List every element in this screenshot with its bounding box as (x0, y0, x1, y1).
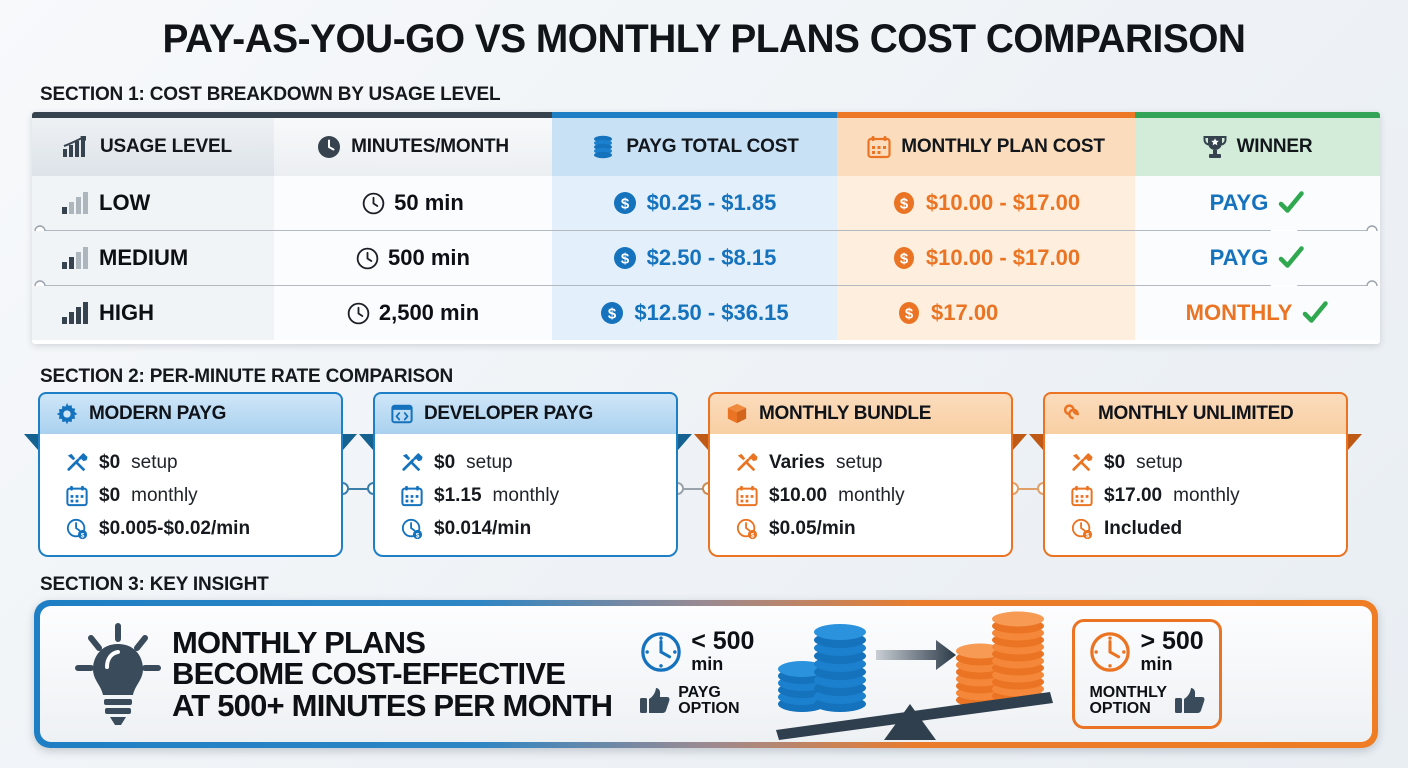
plan-card-monthly-bundle[interactable]: MONTHLY BUNDLE Varies setup $10 (708, 392, 1013, 557)
column-header-label: WINNER (1237, 136, 1313, 158)
cell-usage-level: LOW (32, 176, 274, 230)
clock-coin-icon: $ (736, 518, 758, 540)
cost-breakdown-table: USAGE LEVEL MINUTES/MONTH PAYG TOTAL COS… (32, 112, 1380, 344)
cell-usage-level: HIGH (32, 286, 274, 340)
ribbon-fold-right (678, 434, 692, 450)
svg-text:$: $ (81, 532, 85, 539)
card-body: $0 setup $1.15 monthly $ $0 (373, 434, 678, 557)
section-2-label: SECTION 2: PER-MINUTE RATE COMPARISON (40, 366, 453, 388)
headline-line-3: AT 500+ MINUTES PER MONTH (172, 690, 612, 722)
coin-stack-orange-icon (956, 612, 1044, 708)
cell-usage-level: MEDIUM (32, 231, 274, 285)
card-title: MONTHLY BUNDLE (759, 403, 931, 425)
column-header-label: PAYG TOTAL COST (626, 136, 798, 158)
coin-stack-icon (590, 134, 616, 160)
column-header-payg-total-cost: PAYG TOTAL COST (552, 118, 837, 176)
clock-coin-icon: $ (66, 518, 88, 540)
tools-icon (1071, 452, 1093, 474)
card-row: $ Included (1071, 512, 1346, 545)
trophy-icon (1203, 134, 1227, 160)
usage-level-label: HIGH (99, 300, 154, 326)
key-insight-banner: MONTHLY PLANS BECOME COST-EFFECTIVE AT 5… (34, 600, 1378, 748)
tools-icon (736, 452, 758, 474)
right-threshold-unit: min (1140, 654, 1203, 675)
card-row: $0 setup (401, 446, 676, 479)
dollar-coin-icon: $ (892, 246, 916, 270)
left-threshold-badge: < 500 min PAYG OPTION (640, 630, 754, 718)
column-header-label: MONTHLY PLAN COST (901, 136, 1105, 158)
clock-icon (347, 302, 370, 325)
cell-winner: MONTHLY (1135, 286, 1380, 340)
card-slot: DEVELOPER PAYG $0 setup $1.15 (373, 392, 708, 554)
checkmark-icon (1277, 189, 1305, 217)
thumbs-up-icon (640, 687, 670, 715)
cell-winner: PAYG (1135, 231, 1380, 285)
payg-cost-value: $0.25 - $1.85 (647, 190, 777, 216)
svg-text:$: $ (416, 532, 420, 539)
infographic-page: PAY-AS-YOU-GO VS MONTHLY PLANS COST COMP… (0, 0, 1408, 768)
clock-icon (640, 631, 682, 673)
card-row-value: $1.15 (434, 485, 482, 507)
svg-text:$: $ (900, 251, 909, 268)
right-option-line-1: MONTHLY (1089, 685, 1167, 702)
column-header-label: USAGE LEVEL (100, 136, 232, 158)
card-title: DEVELOPER PAYG (424, 403, 593, 425)
card-row-value: $10.00 (769, 485, 827, 507)
monthly-cost-value: $17.00 (931, 300, 998, 326)
card-row-label: setup (466, 452, 512, 474)
left-option-label: PAYG OPTION (678, 685, 739, 719)
left-option-line-1: PAYG (678, 685, 739, 702)
rate-comparison-cards: MODERN PAYG $0 setup $0 (38, 392, 1378, 554)
cell-payg-cost: $ $12.50 - $36.15 (552, 286, 837, 340)
card-row: $0 setup (66, 446, 341, 479)
card-row-value: $0.005-$0.02/min (99, 518, 250, 540)
column-header-monthly-plan-cost: MONTHLY PLAN COST (837, 118, 1135, 176)
clock-icon (317, 135, 341, 159)
right-option-line-2: OPTION (1089, 701, 1167, 718)
card-row-value: $17.00 (1104, 485, 1162, 507)
checkmark-icon (1277, 244, 1305, 272)
card-connector-line (678, 488, 708, 490)
svg-text:$: $ (905, 306, 914, 323)
card-header: MONTHLY UNLIMITED (1043, 392, 1348, 434)
card-row-label: setup (836, 452, 882, 474)
insight-headline: MONTHLY PLANS BECOME COST-EFFECTIVE AT 5… (172, 627, 612, 722)
left-threshold-row: < 500 min (640, 630, 754, 675)
calendar-icon (736, 485, 758, 507)
card-body: $0 setup $17.00 monthly $ I (1043, 434, 1348, 557)
signal-bars-icon (62, 247, 88, 269)
balance-scale-illustration (770, 608, 1060, 740)
usage-level-label: MEDIUM (99, 245, 188, 271)
card-row: $1.15 monthly (401, 479, 676, 512)
headline-line-2: BECOME COST-EFFECTIVE (172, 658, 612, 690)
gear-icon (56, 403, 78, 425)
card-row-value: $0 (99, 452, 120, 474)
key-insight-inner: MONTHLY PLANS BECOME COST-EFFECTIVE AT 5… (40, 606, 1372, 742)
minutes-value: 500 min (388, 245, 470, 271)
minutes-value: 2,500 min (379, 300, 479, 326)
ribbon-fold-left (694, 434, 708, 450)
right-option-label: MONTHLY OPTION (1089, 685, 1167, 719)
card-title: MONTHLY UNLIMITED (1098, 403, 1293, 425)
card-slot: MONTHLY UNLIMITED $0 setup $17. (1043, 392, 1378, 554)
card-row: $ $0.014/min (401, 512, 676, 545)
svg-text:$: $ (620, 251, 629, 268)
card-row-label: monthly (838, 485, 905, 507)
card-row: $ $0.05/min (736, 512, 1011, 545)
column-header-minutes-month: MINUTES/MONTH (274, 118, 552, 176)
right-option-row: MONTHLY OPTION (1089, 685, 1205, 719)
card-title: MODERN PAYG (89, 403, 226, 425)
signal-bars-icon (62, 192, 88, 214)
calendar-icon (401, 485, 423, 507)
card-header: MODERN PAYG (38, 392, 343, 434)
card-row-value: $0 (99, 485, 120, 507)
right-threshold-row: > 500 min (1089, 630, 1205, 675)
ribbon-fold-left (24, 434, 38, 450)
page-title: PAY-AS-YOU-GO VS MONTHLY PLANS COST COMP… (21, 0, 1387, 62)
cell-minutes: 500 min (274, 231, 552, 285)
svg-text:$: $ (608, 306, 617, 323)
thumbs-up-icon (1175, 687, 1205, 715)
tools-icon (66, 452, 88, 474)
card-slot: MONTHLY BUNDLE Varies setup $10 (708, 392, 1043, 554)
cell-monthly-cost: $ $10.00 - $17.00 (837, 231, 1135, 285)
left-threshold-value: < 500 (691, 630, 754, 654)
lightbulb-icon (74, 622, 162, 726)
minutes-value: 50 min (394, 190, 464, 216)
card-row-value: $0 (434, 452, 455, 474)
bar-chart-growth-icon (62, 135, 90, 159)
coin-stack-blue-icon (778, 624, 866, 712)
svg-text:$: $ (1086, 532, 1090, 539)
dollar-coin-icon: $ (892, 191, 916, 215)
payg-cost-value: $2.50 - $8.15 (647, 245, 777, 271)
clock-icon (356, 247, 379, 270)
ribbon-fold-right (1013, 434, 1027, 450)
card-row-label: monthly (493, 485, 560, 507)
section-1-label: SECTION 1: COST BREAKDOWN BY USAGE LEVEL (40, 84, 500, 106)
headline-line-1: MONTHLY PLANS (172, 627, 612, 659)
clock-icon (362, 192, 385, 215)
plan-card-modern-payg[interactable]: MODERN PAYG $0 setup $0 (38, 392, 343, 557)
calendar-icon (867, 135, 891, 159)
cell-winner: PAYG (1135, 176, 1380, 230)
card-header: DEVELOPER PAYG (373, 392, 678, 434)
left-threshold-unit: min (691, 654, 754, 675)
ribbon-fold-left (359, 434, 373, 450)
winner-label: MONTHLY (1186, 300, 1293, 326)
payg-cost-value: $12.50 - $36.15 (634, 300, 788, 326)
right-threshold-content: > 500 min MONTHLY OPTION (1089, 630, 1205, 718)
cell-payg-cost: $ $0.25 - $1.85 (552, 176, 837, 230)
clock-coin-icon: $ (401, 518, 423, 540)
tools-icon (401, 452, 423, 474)
dollar-coin-icon: $ (613, 191, 637, 215)
table-header-row: USAGE LEVEL MINUTES/MONTH PAYG TOTAL COS… (32, 118, 1380, 176)
card-row-label: monthly (1173, 485, 1240, 507)
left-option-line-2: OPTION (678, 701, 739, 718)
table-row: LOW 50 min $ $0.25 - $1.85 $ $10.00 - $1… (32, 176, 1380, 230)
table-row: HIGH 2,500 min $ $12.50 - $36.15 $ $17.0… (32, 286, 1380, 340)
section-3-label: SECTION 3: KEY INSIGHT (40, 574, 269, 596)
card-row: $0 monthly (66, 479, 341, 512)
column-header-label: MINUTES/MONTH (351, 136, 509, 158)
clock-coin-icon: $ (1071, 518, 1093, 540)
plan-card-developer-payg[interactable]: DEVELOPER PAYG $0 setup $1.15 (373, 392, 678, 557)
card-row-value: Varies (769, 452, 825, 474)
card-row-value: $0.05/min (769, 518, 856, 540)
dollar-coin-icon: $ (897, 301, 921, 325)
checkmark-icon (1301, 299, 1329, 327)
svg-text:$: $ (620, 196, 629, 213)
cell-minutes: 2,500 min (274, 286, 552, 340)
ribbon-fold-right (343, 434, 357, 450)
right-threshold-value: > 500 (1140, 630, 1203, 654)
cell-monthly-cost: $ $17.00 (837, 286, 1135, 340)
card-slot: MODERN PAYG $0 setup $0 (38, 392, 373, 554)
card-row: Varies setup (736, 446, 1011, 479)
card-row: $0 setup (1071, 446, 1346, 479)
card-body: Varies setup $10.00 monthly $ (708, 434, 1013, 557)
dollar-coin-icon: $ (613, 246, 637, 270)
column-header-usage-level: USAGE LEVEL (32, 118, 274, 176)
card-connector-line (343, 488, 373, 490)
cell-minutes: 50 min (274, 176, 552, 230)
signal-bars-icon (62, 302, 88, 324)
card-row: $17.00 monthly (1071, 479, 1346, 512)
clock-icon (1089, 631, 1131, 673)
arrow-right-icon (876, 640, 956, 670)
card-connector-line (1013, 488, 1043, 490)
usage-level-label: LOW (99, 190, 150, 216)
card-body: $0 setup $0 monthly $ $0.00 (38, 434, 343, 557)
monthly-cost-value: $10.00 - $17.00 (926, 245, 1080, 271)
code-window-icon (391, 403, 413, 425)
left-option-row: PAYG OPTION (640, 685, 754, 719)
dollar-coin-icon: $ (600, 301, 624, 325)
card-row-label: setup (131, 452, 177, 474)
winner-label: PAYG (1210, 245, 1269, 271)
cell-payg-cost: $ $2.50 - $8.15 (552, 231, 837, 285)
ribbon-fold-left (1029, 434, 1043, 450)
winner-label: PAYG (1210, 190, 1269, 216)
column-header-winner: WINNER (1135, 118, 1380, 176)
calendar-icon (66, 485, 88, 507)
card-row-value: $0 (1104, 452, 1125, 474)
svg-text:$: $ (751, 532, 755, 539)
table-row: MEDIUM 500 min $ $2.50 - $8.15 $ $10.00 … (32, 231, 1380, 285)
svg-text:$: $ (900, 196, 909, 213)
ribbon-fold-right (1348, 434, 1362, 450)
card-row-value: Included (1104, 518, 1182, 540)
plan-card-monthly-unlimited[interactable]: MONTHLY UNLIMITED $0 setup $17. (1043, 392, 1348, 557)
calendar-icon (1071, 485, 1093, 507)
right-threshold-badge: > 500 min MONTHLY OPTION (1072, 619, 1222, 729)
monthly-cost-value: $10.00 - $17.00 (926, 190, 1080, 216)
card-header: MONTHLY BUNDLE (708, 392, 1013, 434)
card-row: $ $0.005-$0.02/min (66, 512, 341, 545)
cell-monthly-cost: $ $10.00 - $17.00 (837, 176, 1135, 230)
card-row-label: setup (1136, 452, 1182, 474)
card-row-value: $0.014/min (434, 518, 531, 540)
card-row: $10.00 monthly (736, 479, 1011, 512)
infinity-icon (1061, 404, 1087, 424)
card-row-label: monthly (131, 485, 198, 507)
box-icon (726, 403, 748, 425)
